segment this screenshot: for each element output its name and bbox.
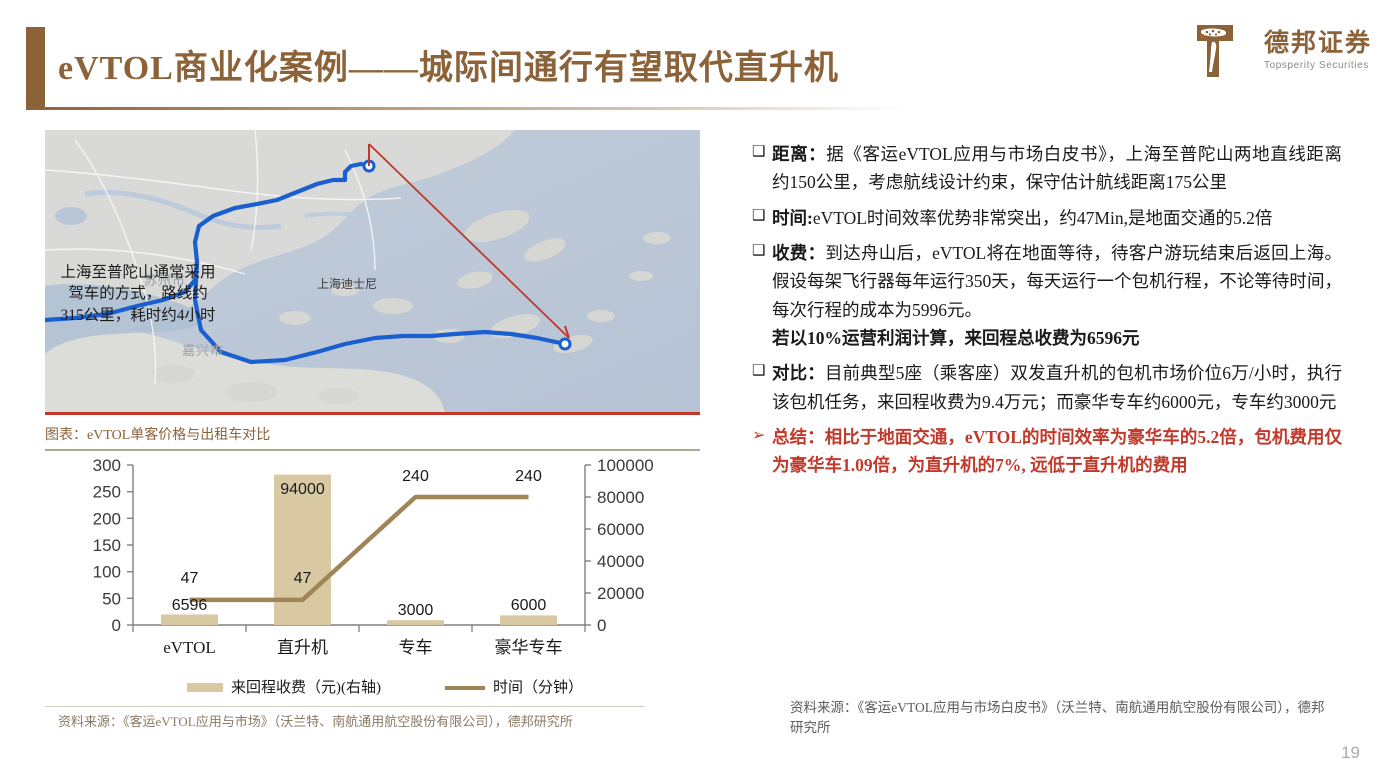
legend-swatch-bar	[187, 683, 223, 692]
bullet-time: ❑ 时间:eVTOL时间效率优势非常突出，约47Min,是地面交通的5.2倍	[752, 204, 1342, 232]
bullet-fee-emphasis: 若以10%运营利润计算，来回程总收费为6596元	[772, 324, 1342, 352]
svg-text:eVTOL: eVTOL	[163, 638, 216, 657]
map-callout-text: 上海至普陀山通常采用驾车的方式，路线约315公里，耗时约4小时	[58, 262, 218, 326]
bullet-comparison-text: 目前典型5座（乘客座）双发直升机的包机市场价位6万/小时，执行该包机任务，来回程…	[772, 363, 1342, 411]
svg-text:40000: 40000	[597, 552, 644, 571]
svg-text:150: 150	[93, 536, 121, 555]
svg-text:来回程收费（元)(右轴): 来回程收费（元)(右轴)	[231, 679, 381, 696]
bullet-distance-body: 距离：据《客运eVTOL应用与市场白皮书》，上海至普陀山两地直线距离约150公里…	[772, 140, 1342, 197]
bullet-summary-lead: 总结：	[772, 427, 825, 447]
svg-text:直升机: 直升机	[277, 638, 328, 657]
map-label-jiaxing: 嘉兴市	[182, 340, 224, 359]
svg-text:94000: 94000	[280, 481, 325, 498]
bullet-summary-body: 总结：相比于地面交通，eVTOL的时间效率为豪华车的5.2倍，包机费用仅为豪华车…	[772, 423, 1342, 480]
right-source-note: 资料来源：《客运eVTOL应用与市场白皮书》（沃兰特、南航通用航空股份有限公司）…	[790, 698, 1330, 739]
svg-text:3000: 3000	[398, 602, 434, 619]
svg-text:60000: 60000	[597, 520, 644, 539]
svg-text:专车: 专车	[399, 638, 433, 657]
logo-name-cn: 德邦证券	[1264, 31, 1372, 57]
svg-text:47: 47	[294, 570, 312, 587]
svg-text:300: 300	[93, 456, 121, 475]
svg-text:0: 0	[112, 616, 121, 635]
svg-text:50: 50	[102, 589, 121, 608]
square-bullet-icon: ❑	[752, 359, 772, 383]
svg-text:时间（分钟）: 时间（分钟）	[493, 679, 583, 696]
destination-marker	[560, 339, 570, 349]
bullet-summary-text: 相比于地面交通，eVTOL的时间效率为豪华车的5.2倍，包机费用仅为豪华车1.0…	[772, 427, 1342, 475]
page-number: 19	[1341, 743, 1360, 763]
map-label-disneyland: 上海迪士尼	[317, 275, 377, 292]
time-line-series	[190, 497, 529, 600]
arrow-bullet-icon: ➢	[752, 423, 772, 449]
bullet-list: ❑ 距离：据《客运eVTOL应用与市场白皮书》，上海至普陀山两地直线距离约150…	[752, 140, 1342, 487]
bullet-distance-lead: 距离：	[772, 144, 826, 164]
page-title: eVTOL商业化案例——城际间通行有望取代直升机	[58, 40, 839, 89]
bullet-fee-lead: 收费：	[772, 243, 825, 263]
svg-text:80000: 80000	[597, 488, 644, 507]
bullet-comparison-body: 对比：目前典型5座（乘客座）双发直升机的包机市场价位6万/小时，执行该包机任务，…	[772, 359, 1342, 416]
square-bullet-icon: ❑	[752, 239, 772, 263]
bullet-summary: ➢ 总结：相比于地面交通，eVTOL的时间效率为豪华车的5.2倍，包机费用仅为豪…	[752, 423, 1342, 480]
bullet-distance-text: 据《客运eVTOL应用与市场白皮书》，上海至普陀山两地直线距离约150公里，考虑…	[772, 144, 1342, 192]
svg-text:47: 47	[181, 570, 199, 587]
chart-caption-block: 图表：eVTOL单客价格与出租车对比	[45, 424, 700, 451]
leopard-on-t-mark-icon	[1192, 24, 1252, 78]
svg-text:100: 100	[93, 563, 121, 582]
bullet-time-body: 时间:eVTOL时间效率优势非常突出，约47Min,是地面交通的5.2倍	[772, 204, 1342, 232]
left-source-divider	[45, 706, 645, 707]
chart-caption: 图表：eVTOL单客价格与出租车对比	[45, 424, 700, 449]
title-accent-bar	[26, 27, 45, 110]
title-divider	[26, 107, 906, 110]
bar-zhuanche	[387, 620, 444, 625]
svg-text:6596: 6596	[172, 597, 208, 614]
svg-text:240: 240	[402, 468, 429, 485]
square-bullet-icon: ❑	[752, 204, 772, 228]
svg-text:豪华专车: 豪华专车	[495, 637, 563, 657]
bullet-fee: ❑ 收费：到达舟山后，eVTOL将在地面等待，待客户游玩结束后返回上海。假设每架…	[752, 239, 1342, 352]
map-bottom-rule	[45, 412, 700, 415]
bullet-comparison: ❑ 对比：目前典型5座（乘客座）双发直升机的包机市场价位6万/小时，执行该包机任…	[752, 359, 1342, 416]
svg-text:200: 200	[93, 509, 121, 528]
svg-text:250: 250	[93, 483, 121, 502]
logo-text: 德邦证券 Topsperity Securities	[1264, 31, 1372, 70]
svg-text:6000: 6000	[511, 597, 547, 614]
slide-header: eVTOL商业化案例——城际间通行有望取代直升机 德邦证券 Tops	[0, 0, 1394, 118]
bar-luxury-zhuanche	[500, 615, 557, 625]
bullet-fee-text: 到达舟山后，eVTOL将在地面等待，待客户游玩结束后返回上海。假设每架飞行器每年…	[772, 243, 1342, 320]
chart-caption-rule	[45, 449, 700, 451]
left-source-note: 资料来源：《客运eVTOL应用与市场》（沃兰特、南航通用航空股份有限公司），德邦…	[58, 713, 678, 732]
company-logo: 德邦证券 Topsperity Securities	[1192, 22, 1372, 80]
price-time-comparison-chart: 300 250 200 150 100 50 0 100000 80000 60…	[45, 455, 705, 710]
chart-legend: 来回程收费（元)(右轴) 时间（分钟）	[187, 679, 583, 696]
bullet-time-lead: 时间:	[772, 208, 813, 228]
svg-text:240: 240	[515, 468, 542, 485]
svg-text:0: 0	[597, 616, 606, 635]
bullet-time-text: eVTOL时间效率优势非常突出，约47Min,是地面交通的5.2倍	[813, 208, 1273, 228]
bar-evtol	[161, 614, 218, 625]
bullet-distance: ❑ 距离：据《客运eVTOL应用与市场白皮书》，上海至普陀山两地直线距离约150…	[752, 140, 1342, 197]
square-bullet-icon: ❑	[752, 140, 772, 164]
bullet-fee-body: 收费：到达舟山后，eVTOL将在地面等待，待客户游玩结束后返回上海。假设每架飞行…	[772, 239, 1342, 352]
bullet-comparison-lead: 对比：	[772, 363, 825, 383]
svg-text:100000: 100000	[597, 456, 654, 475]
svg-text:20000: 20000	[597, 584, 644, 603]
logo-name-en: Topsperity Securities	[1264, 60, 1372, 71]
